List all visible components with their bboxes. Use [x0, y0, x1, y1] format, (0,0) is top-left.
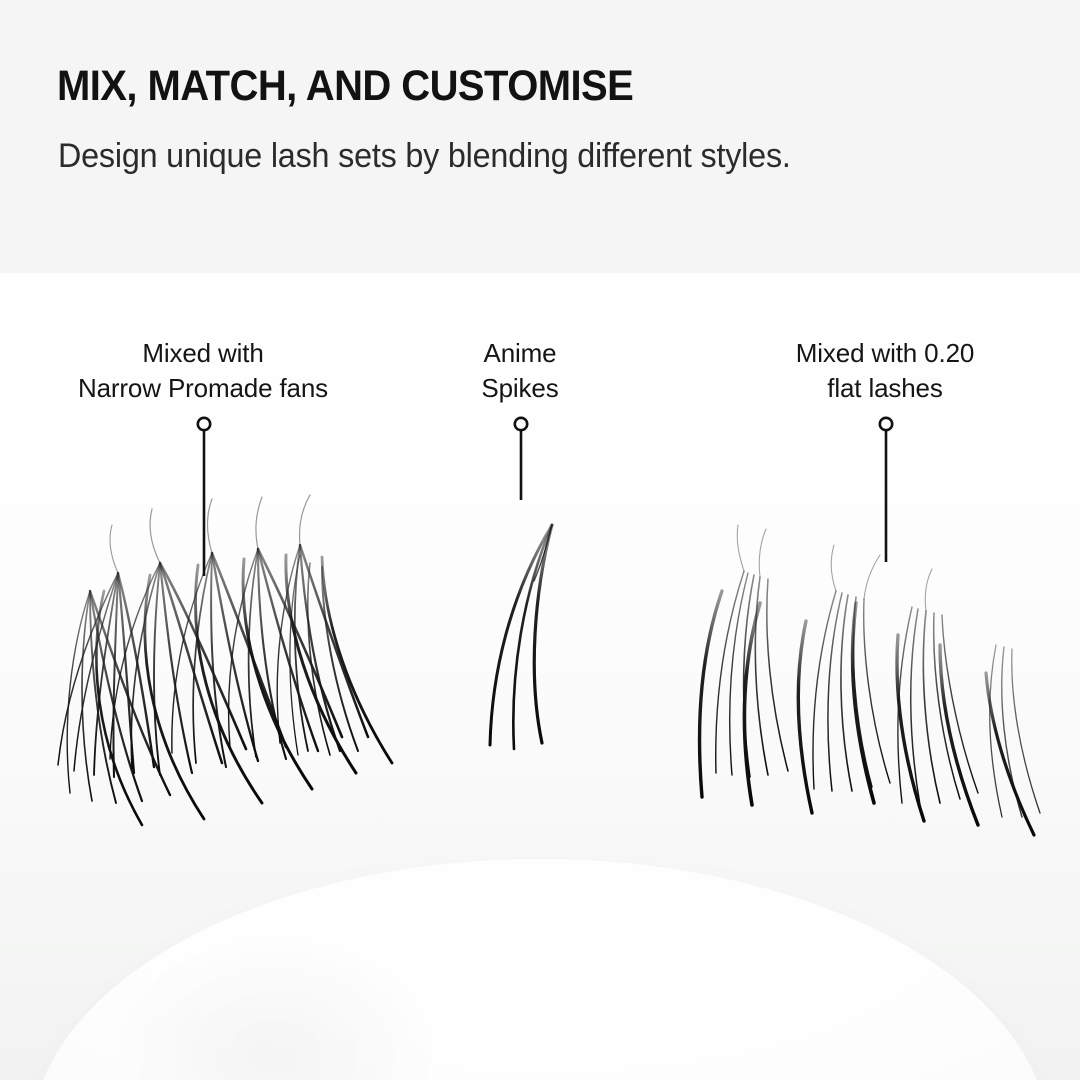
lash-group-narrow-promade-fans	[58, 495, 392, 825]
header-band: MIX, MATCH, AND CUSTOMISE Design unique …	[0, 0, 1080, 273]
callout-flat-lashes: Mixed with 0.20 flat lashes	[685, 336, 1080, 406]
callout-label-line2: flat lashes	[685, 371, 1080, 406]
callout-label-line1: Mixed with 0.20	[685, 336, 1080, 371]
callout-pin-anime-spikes	[507, 412, 535, 508]
lash-group-flat-lashes	[699, 525, 1040, 835]
callout-pin-flat-lashes	[872, 412, 900, 570]
callout-narrow-promade-fans: Mixed with Narrow Promade fans	[3, 336, 403, 406]
callout-label-line1: Mixed with	[3, 336, 403, 371]
callout-anime-spikes: Anime Spikes	[370, 336, 670, 406]
callout-label-line2: Spikes	[370, 371, 670, 406]
callout-label-line1: Anime	[370, 336, 670, 371]
callout-pin-narrow-promade-fans	[190, 412, 218, 584]
page-title: MIX, MATCH, AND CUSTOMISE	[57, 64, 633, 109]
lash-group-anime-spike	[490, 525, 552, 749]
page-subtitle: Design unique lash sets by blending diff…	[58, 136, 791, 176]
callout-label-line2: Narrow Promade fans	[3, 371, 403, 406]
lash-product-infographic: MIX, MATCH, AND CUSTOMISE Design unique …	[0, 0, 1080, 1080]
